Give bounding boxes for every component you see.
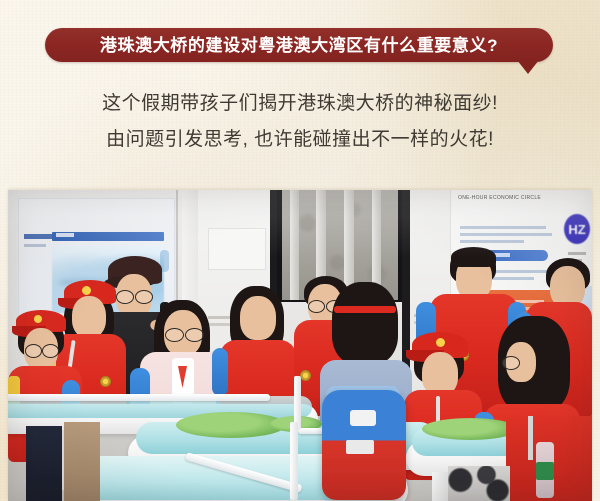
photo-exhibition-hall: ONE-HOUR ECONOMIC CIRCLE HZ (8, 190, 592, 501)
right-board-side-line-1 (568, 252, 586, 255)
cap-emblem-icon (436, 338, 445, 347)
head (72, 296, 106, 338)
visor-emblem-icon (34, 315, 42, 323)
glasses-left-lens (165, 328, 184, 342)
bridge-pylon-front (290, 422, 298, 500)
backpack-logo-patch (350, 410, 376, 426)
right-board-text-line-1 (460, 226, 546, 229)
right-board-text-line-3 (460, 240, 524, 243)
left-board-title-text-block (56, 233, 74, 237)
headline-banner: 港珠澳大桥的建设对粤港澳大湾区有什么重要意义? (45, 28, 553, 62)
glasses-left-lens (308, 300, 325, 313)
backpack-name-tag (346, 440, 374, 454)
uniform-emblem (100, 376, 111, 387)
subtitle-line-1: 这个假期带孩子们揭开港珠澳大桥的神秘面纱! (0, 88, 600, 115)
person-foreground-left-legs (26, 426, 62, 501)
right-board-text-line-2 (460, 233, 552, 236)
wall-caption-card (208, 228, 266, 270)
banner-speech-tail (517, 60, 539, 74)
left-board-header-block (24, 234, 52, 239)
bridge-deck-back (8, 394, 270, 401)
exhibition-logo-icon: HZ (564, 214, 590, 244)
cap-emblem-icon (82, 286, 91, 295)
red-headband (334, 306, 396, 313)
camo-pattern-detail (448, 466, 510, 501)
left-board-subheader-block (24, 244, 46, 247)
glasses-right-lens (42, 344, 59, 358)
bottle-label (536, 462, 554, 480)
subtitle-line-2: 由问题引发思考, 也许能碰撞出不一样的火花! (0, 124, 600, 151)
glasses-right-lens (135, 290, 153, 304)
hair-back-of-head (332, 282, 398, 364)
hair-fringe (451, 247, 496, 267)
stone-pillar-1 (290, 190, 299, 300)
promo-poster: 港珠澳大桥的建设对粤港澳大湾区有什么重要意义? 这个假期带孩子们揭开港珠澳大桥的… (0, 0, 600, 501)
glasses-lens (502, 356, 520, 370)
wall-caption-line-2 (208, 323, 230, 326)
right-board-title: ONE-HOUR ECONOMIC CIRCLE (458, 195, 541, 201)
head (240, 296, 276, 340)
uniform-emblem (300, 370, 311, 381)
model-island-right (422, 418, 518, 440)
headline-text: 港珠澳大桥的建设对粤港澳大湾区有什么重要意义? (100, 37, 498, 54)
glasses-left-lens (25, 344, 42, 358)
glasses-right-lens (185, 328, 204, 342)
backpack-strap (212, 348, 228, 396)
glasses-left-lens (116, 290, 134, 304)
right-lanyard (528, 416, 533, 460)
person-foreground-left-khaki (64, 422, 100, 501)
